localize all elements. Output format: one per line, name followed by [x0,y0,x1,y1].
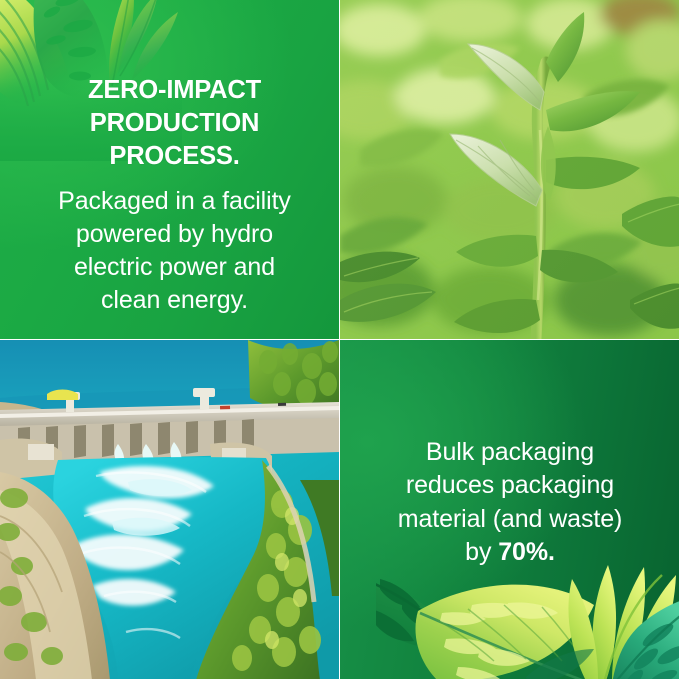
hydroelectric-dam-photo [0,340,339,679]
top-left-text-block: ZERO-IMPACT PRODUCTION PROCESS. Packaged… [0,74,339,316]
body-line-3: electric power and [26,251,323,284]
body-copy: Packaged in a facility powered by hydro … [26,185,323,316]
br-line-2: reduces packaging [362,469,658,502]
headline: ZERO-IMPACT PRODUCTION PROCESS. [26,74,323,173]
body-line-4: clean energy. [26,284,323,317]
headline-line-1: ZERO-IMPACT [26,74,323,107]
br-line-1: Bulk packaging [362,436,658,469]
eco-infographic-grid: ZERO-IMPACT PRODUCTION PROCESS. Packaged… [0,0,679,679]
zero-impact-production-text-panel: ZERO-IMPACT PRODUCTION PROCESS. Packaged… [0,0,339,339]
percent-emphasis: 70%. [498,538,555,566]
body-line-1: Packaged in a facility [26,185,323,218]
headline-line-2: PRODUCTION PROCESS. [26,107,323,173]
body-line-2: powered by hydro [26,218,323,251]
bulk-packaging-copy: Bulk packaging reduces packaging materia… [362,436,658,569]
dam-aerial-illustration [0,340,339,679]
br-line-3: material (and waste) [362,503,658,536]
bottom-right-text-block: Bulk packaging reduces packaging materia… [340,436,679,569]
br-line-4: by 70%. [362,536,658,569]
tea-leaves-illustration [340,0,679,339]
bulk-packaging-text-panel: Bulk packaging reduces packaging materia… [340,340,679,679]
tea-plantation-photo [340,0,679,339]
br-line-4-prefix: by [465,538,498,566]
